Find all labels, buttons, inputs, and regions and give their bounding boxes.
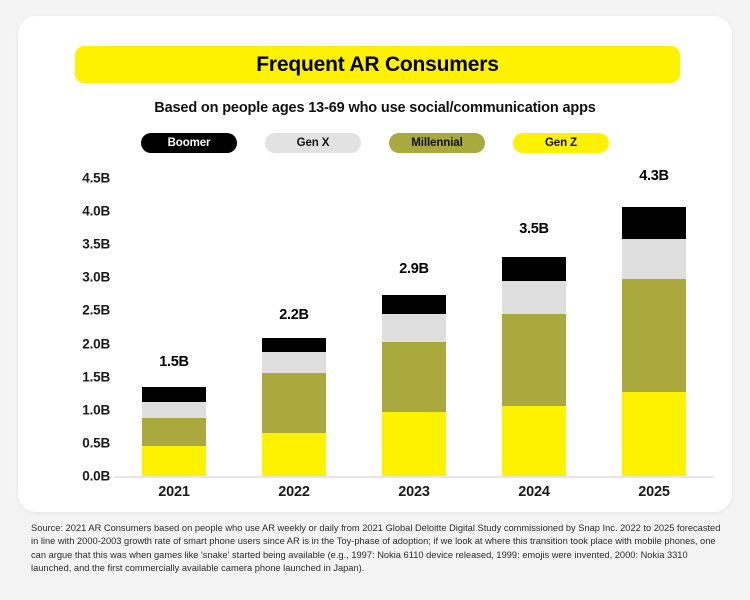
x-axis-label-2025: 2025 [622,484,686,500]
legend-label: Gen X [297,137,330,149]
bar-total-label: 3.5B [502,221,566,237]
bar-group-2022[interactable]: 2.2B [262,178,326,476]
bar-group-2021[interactable]: 1.5B [142,178,206,476]
bar-segment-gen-z[interactable] [382,412,446,476]
y-axis-tick: 0.0B [82,469,110,484]
legend-item-millennial[interactable]: Millennial [389,133,485,153]
x-axis-labels: 20212022202320242025 [114,484,714,500]
page-title: Frequent AR Consumers [256,53,498,77]
bar-total-label: 4.3B [622,168,686,184]
y-axis-tick: 4.0B [82,204,110,219]
legend-item-gen-z[interactable]: Gen Z [513,133,609,153]
chart-subtitle: Based on people ages 13-69 who use socia… [18,100,732,116]
bar-segment-gen-z[interactable] [622,392,686,476]
y-axis: 4.5B4.0B3.5B3.0B2.5B2.0B1.5B1.0B0.5B0.0B [40,178,110,475]
source-footnote: Source: 2021 AR Consumers based on peopl… [31,522,723,576]
bar-segment-gen-x[interactable] [502,281,566,314]
bar-segment-millennial[interactable] [382,342,446,412]
y-axis-tick: 3.0B [82,270,110,285]
bar-segment-gen-x[interactable] [382,314,446,342]
bar-segment-millennial[interactable] [142,418,206,446]
y-axis-tick: 1.5B [82,369,110,384]
chart-legend: BoomerGen XMillennialGen Z [18,133,732,153]
bar-group-2023[interactable]: 2.9B [382,178,446,476]
y-axis-tick: 2.5B [82,303,110,318]
legend-label: Millennial [411,137,462,149]
bar-segment-boomer[interactable] [622,207,686,239]
bar-segment-gen-x[interactable] [262,352,326,374]
bar-segment-millennial[interactable] [502,314,566,406]
bar-group-2025[interactable]: 4.3B [622,178,686,476]
bar-segment-gen-x[interactable] [622,239,686,279]
plot-area: 4.5B4.0B3.5B3.0B2.5B2.0B1.5B1.0B0.5B0.0B… [18,16,732,512]
x-axis-label-2024: 2024 [502,484,566,500]
bar-total-label: 2.2B [262,307,326,323]
y-axis-tick: 1.0B [82,402,110,417]
legend-label: Gen Z [545,137,577,149]
title-banner: Frequent AR Consumers [75,46,680,83]
legend-item-boomer[interactable]: Boomer [141,133,237,153]
chart-card: Frequent AR Consumers Based on people ag… [18,16,732,512]
legend-item-gen-x[interactable]: Gen X [265,133,361,153]
bar-group-2024[interactable]: 3.5B [502,178,566,476]
bar-segment-boomer[interactable] [382,295,446,315]
y-axis-tick: 0.5B [82,435,110,450]
legend-label: Boomer [168,137,211,149]
bar-segment-gen-z[interactable] [262,433,326,476]
y-axis-tick: 2.0B [82,336,110,351]
bar-segment-boomer[interactable] [502,257,566,281]
bar-segment-boomer[interactable] [262,338,326,351]
bar-segment-gen-x[interactable] [142,402,206,419]
x-axis-label-2022: 2022 [262,484,326,500]
y-axis-tick: 4.5B [82,171,110,186]
bar-segment-boomer[interactable] [142,387,206,402]
x-axis-label-2021: 2021 [142,484,206,500]
bar-total-label: 2.9B [382,261,446,277]
x-axis-line [114,476,714,478]
bar-segment-millennial[interactable] [262,373,326,433]
x-axis-label-2023: 2023 [382,484,446,500]
bars-container: 1.5B2.2B2.9B3.5B4.3B [114,178,714,476]
bar-segment-gen-z[interactable] [502,406,566,476]
bar-segment-gen-z[interactable] [142,446,206,476]
bar-total-label: 1.5B [142,354,206,370]
bar-segment-millennial[interactable] [622,279,686,392]
y-axis-tick: 3.5B [82,237,110,252]
